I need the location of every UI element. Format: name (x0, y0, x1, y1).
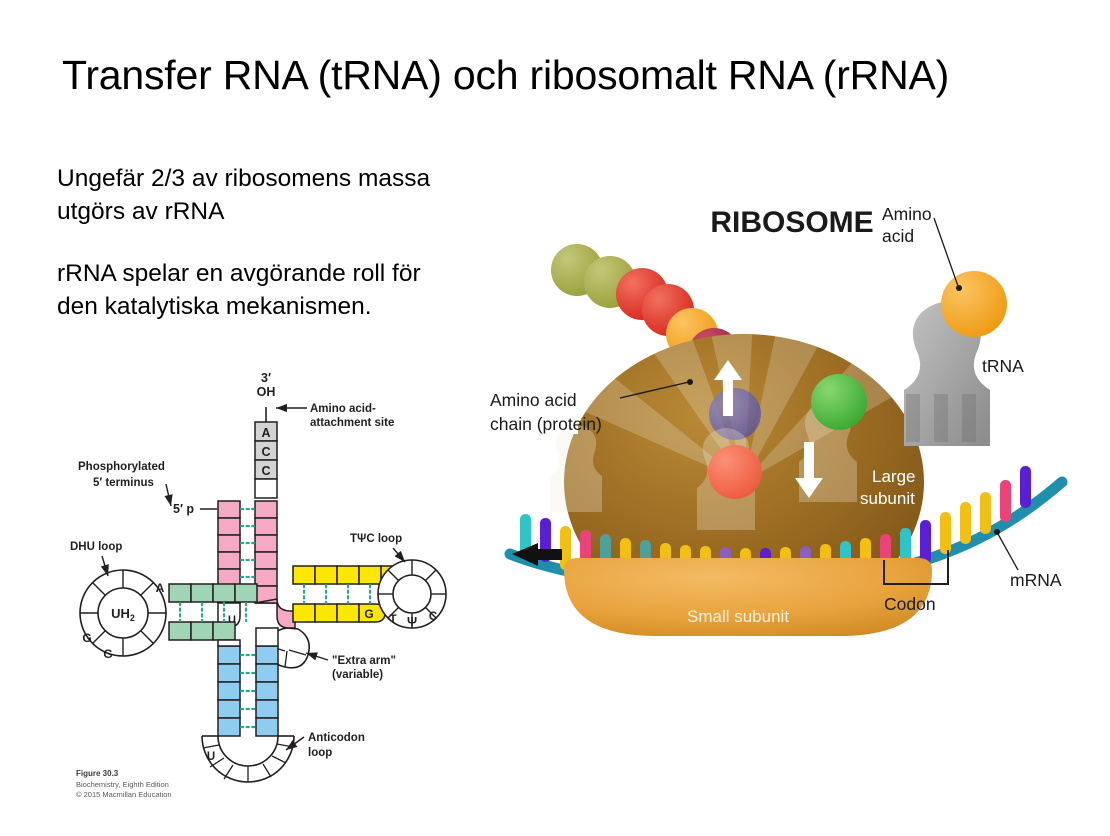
dhu-loop: UH2 G G A (80, 570, 166, 661)
label-five-prime-p: 5′ p (173, 502, 194, 516)
leader-mrna (998, 534, 1018, 570)
leader-dot-mrna (994, 529, 1000, 535)
label-large-subunit-line2: subunit (860, 489, 915, 508)
dhu-base-g1: G (82, 631, 91, 645)
tpsic-base-t: T (389, 614, 396, 626)
leader-phosphorylated (166, 484, 171, 506)
trna-cloverleaf-figure: A C C U (60, 370, 490, 820)
label-phosphorylated-line2: 5′ terminus (93, 477, 154, 489)
label-codon: Codon (884, 594, 936, 614)
label-tpsic-loop: TΨC loop (350, 533, 402, 545)
leader-anticodon-loop (286, 737, 304, 750)
acceptor-stem-3prime (255, 501, 295, 628)
label-amino-acid-attachment-line2: attachment site (310, 417, 394, 429)
acceptor-stem-hbonds (241, 509, 254, 594)
ribosome-figure: RIBOSOME (482, 182, 1102, 662)
label-extra-arm-line1: "Extra arm" (332, 655, 396, 667)
free-amino-acid-sphere (941, 271, 1007, 337)
tpsic-base-psi: Ψ (407, 615, 417, 629)
label-amino-acid-line2: acid (882, 226, 914, 246)
acceptor-stem-5prime: U (218, 501, 240, 627)
leader-tpsic-loop (393, 548, 405, 562)
base-c2: C (261, 464, 270, 478)
label-amino-acid-chain-line1: Amino acid (490, 390, 577, 410)
label-large-subunit-line1: Large (872, 467, 915, 486)
label-dhu-loop: DHU loop (70, 541, 122, 553)
figure-caption-title: Figure 30.3 (76, 768, 296, 780)
label-three-prime: 3′ (261, 371, 271, 385)
inner-bead-green (811, 374, 867, 430)
anticodon-base-u: U (207, 751, 215, 763)
label-mrna: mRNA (1010, 570, 1062, 590)
inner-bead-salmon (708, 445, 762, 499)
label-small-subunit: Small subunit (687, 607, 789, 626)
acceptor-end-bases: A C C (255, 422, 277, 498)
leader-dot-amino-acid (956, 285, 962, 291)
ribosome-heading: RIBOSOME (710, 206, 873, 239)
anticodon-stem-hbonds (241, 655, 255, 727)
dhu-base-a: A (156, 581, 165, 595)
base-c1: C (261, 445, 270, 459)
figure-caption: Figure 30.3 Biochemistry, Eighth Edition… (76, 768, 296, 801)
tpsic-base-c2: C (429, 611, 437, 623)
label-trna: tRNA (982, 356, 1024, 376)
label-amino-acid-attachment-line1: Amino acid- (310, 403, 376, 415)
label-amino-acid-line1: Amino (882, 204, 932, 224)
label-anticodon-line2: loop (308, 747, 332, 759)
paragraph-spacer (57, 228, 467, 258)
trna-stripes (906, 394, 976, 442)
body-paragraph-2: rRNA spelar en avgörande roll för den ka… (57, 258, 467, 323)
label-extra-arm-line2: (variable) (332, 669, 383, 681)
slide-body-text: Ungefär 2/3 av ribosomens massa utgörs a… (57, 163, 467, 323)
label-oh: OH (257, 385, 276, 399)
leader-extra-arm (306, 653, 328, 660)
tpsic-loop: T Ψ C (378, 560, 446, 629)
leader-amino-acid (934, 218, 958, 286)
leader-dhu-loop (102, 556, 108, 576)
dhu-stem (169, 584, 257, 640)
figure-caption-copyright: © 2015 Macmillan Education (76, 790, 296, 801)
tpsic-stem-hbonds (304, 585, 370, 603)
label-phosphorylated-line1: Phosphorylated (78, 461, 165, 473)
page-title: Transfer RNA (tRNA) och ribosomalt RNA (… (62, 52, 1062, 99)
leader-dot-chain (687, 379, 693, 385)
base-a: A (261, 426, 270, 440)
body-paragraph-1: Ungefär 2/3 av ribosomens massa utgörs a… (57, 163, 467, 228)
label-anticodon-line1: Anticodon (308, 732, 365, 744)
tpsic-base-g: G (364, 607, 373, 621)
figure-caption-source: Biochemistry, Eighth Edition (76, 780, 296, 791)
label-amino-acid-chain-line2: chain (protein) (490, 414, 602, 434)
dhu-base-g2: G (103, 647, 112, 661)
